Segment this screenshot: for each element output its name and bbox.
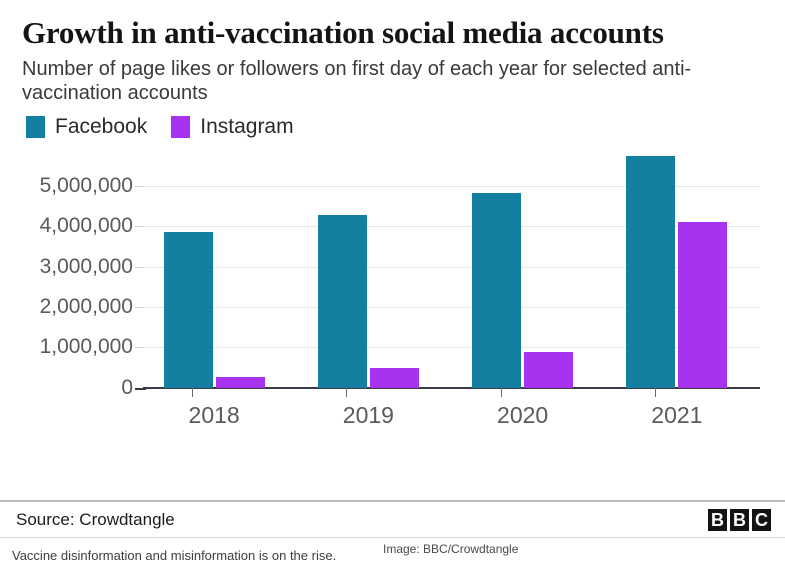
legend-swatch-instagram	[171, 116, 190, 138]
bar-facebook-2020[interactable]	[472, 193, 521, 388]
chart-legend: FacebookInstagram	[0, 106, 785, 138]
legend-item-facebook[interactable]: Facebook	[26, 116, 147, 138]
x-axis-label-2018: 2018	[189, 402, 240, 429]
bar-instagram-2021[interactable]	[678, 222, 727, 387]
y-axis-tick-label: 0	[121, 376, 133, 400]
x-axis-labels: 2018201920202021	[143, 402, 760, 436]
legend-label: Facebook	[55, 116, 147, 137]
chart-subtitle: Number of page likes or followers on fir…	[22, 57, 722, 106]
y-axis-tick-label: 1,000,000	[40, 335, 133, 359]
page-title: Growth in anti-vaccination social media …	[22, 16, 712, 51]
x-axis-tick-mark	[192, 388, 193, 397]
chart-header: Growth in anti-vaccination social media …	[0, 0, 785, 106]
bbc-logo: BBC	[708, 509, 771, 531]
y-axis-tick-label: 3,000,000	[40, 255, 133, 279]
x-axis-tick-mark	[346, 388, 347, 397]
bar-facebook-2019[interactable]	[318, 215, 367, 387]
plot: 01,000,0002,000,0003,000,0004,000,0005,0…	[0, 146, 785, 446]
bar-instagram-2019[interactable]	[370, 368, 419, 388]
legend-label: Instagram	[200, 116, 293, 137]
legend-swatch-facebook	[26, 116, 45, 138]
x-axis-label-2019: 2019	[343, 402, 394, 429]
bar-group-2019	[318, 146, 419, 388]
bar-facebook-2021[interactable]	[626, 156, 675, 388]
bar-instagram-2020[interactable]	[524, 352, 573, 387]
bar-group-2020	[472, 146, 573, 388]
source-bar: Source: Crowdtangle BBC	[0, 500, 785, 538]
bar-facebook-2018[interactable]	[164, 232, 213, 387]
y-axis: 01,000,0002,000,0003,000,0004,000,0005,0…	[0, 146, 133, 388]
bar-group-2018	[164, 146, 265, 388]
caption-row: Vaccine disinformation and misinformatio…	[0, 540, 785, 582]
bbc-logo-block-1: B	[708, 509, 727, 531]
legend-item-instagram[interactable]: Instagram	[171, 116, 293, 138]
x-axis-label-2020: 2020	[497, 402, 548, 429]
chart-plot-area: 01,000,0002,000,0003,000,0004,000,0005,0…	[0, 146, 785, 446]
y-axis-tick-label: 2,000,000	[40, 295, 133, 319]
y-axis-tick-label: 4,000,000	[40, 214, 133, 238]
bar-group-2021	[626, 146, 727, 388]
y-axis-tick-label: 5,000,000	[40, 174, 133, 198]
x-axis-tick-mark	[501, 388, 502, 397]
image-credit: Image: BBC/Crowdtangle	[383, 542, 518, 556]
caption-text: Vaccine disinformation and misinformatio…	[12, 548, 336, 563]
bbc-bar-chart-infographic: Growth in anti-vaccination social media …	[0, 0, 785, 582]
x-axis-label-2021: 2021	[651, 402, 702, 429]
bar-instagram-2018[interactable]	[216, 377, 265, 387]
bars	[143, 146, 760, 388]
source-label: Source: Crowdtangle	[16, 510, 175, 530]
bbc-logo-block-2: B	[730, 509, 749, 531]
bbc-logo-block-3: C	[752, 509, 771, 531]
x-axis-tick-mark	[655, 388, 656, 397]
